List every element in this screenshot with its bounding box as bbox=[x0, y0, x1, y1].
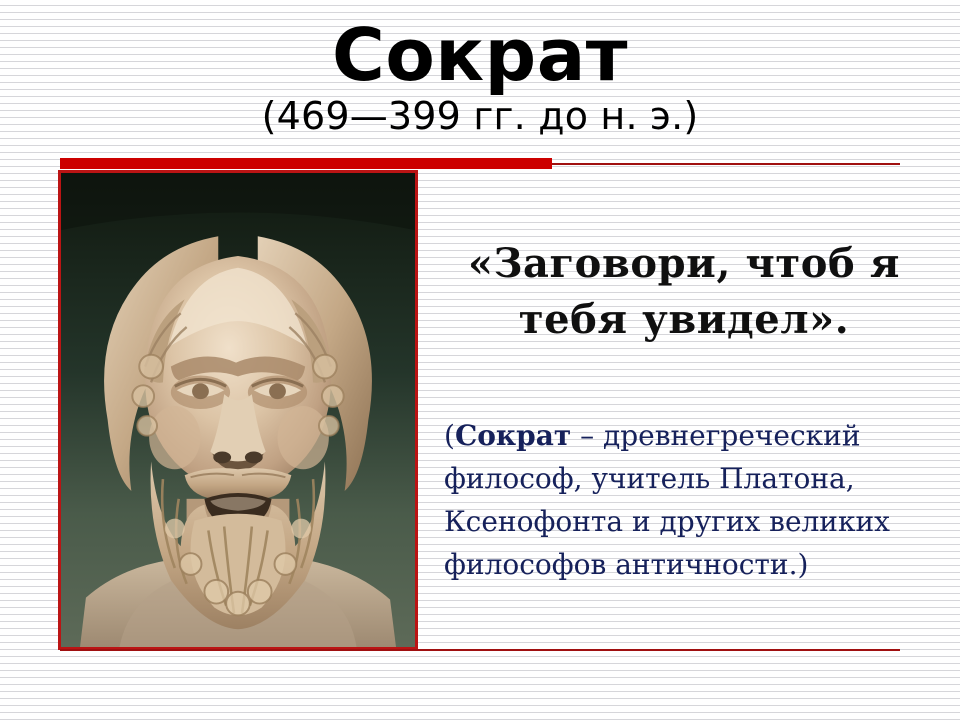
page-title: Сократ bbox=[0, 18, 960, 92]
title-block: Сократ (469—399 гг. до н. э.) bbox=[0, 18, 960, 138]
portrait-socrates-bust bbox=[58, 170, 418, 650]
quote-line-1: «Заговори, чтоб я bbox=[440, 236, 928, 292]
description-block: (Сократ – древнегреческий философ, учите… bbox=[444, 414, 928, 586]
page-subtitle-dates: (469—399 гг. до н. э.) bbox=[0, 94, 960, 138]
description-open-paren: ( bbox=[444, 419, 455, 452]
divider-thick-red bbox=[60, 158, 552, 169]
divider-thin-bottom bbox=[60, 649, 900, 651]
quote-block: «Заговори, чтоб я тебя увидел». bbox=[440, 236, 928, 348]
description-bold-name: Сократ bbox=[455, 419, 571, 452]
bust-illustration bbox=[61, 173, 415, 647]
quote-line-2: тебя увидел». bbox=[440, 292, 928, 348]
slide-root: Сократ (469—399 гг. до н. э.) bbox=[0, 0, 960, 720]
description-paragraph: (Сократ – древнегреческий философ, учите… bbox=[444, 414, 928, 586]
